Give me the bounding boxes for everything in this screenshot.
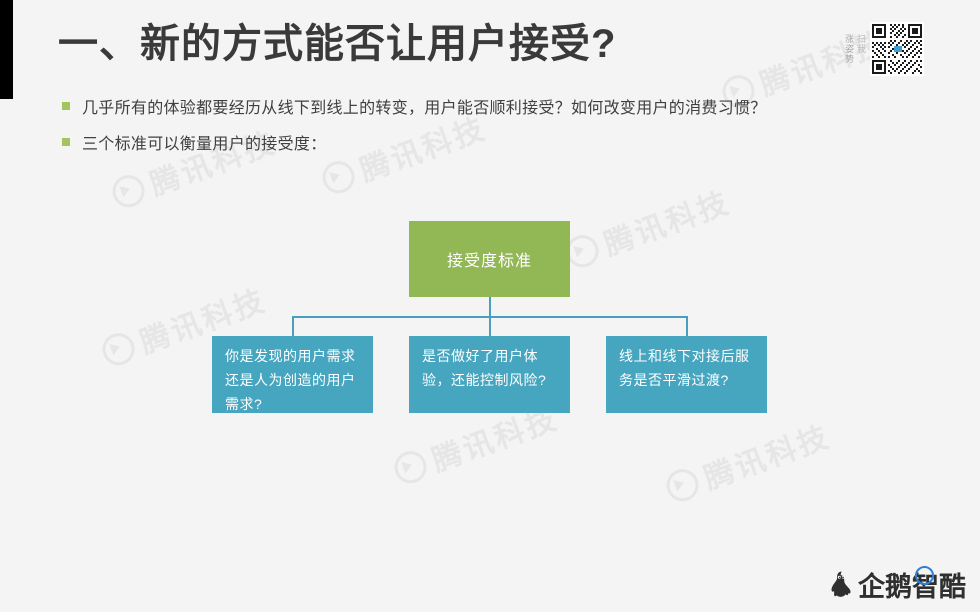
node-label: 接受度标准	[447, 247, 532, 271]
bullet-text: 三个标准可以衡量用户的接受度：	[82, 134, 327, 156]
node-label: 线上和线下对接后服务是否平滑过渡?	[619, 344, 754, 392]
page-title: 一、新的方式能否让用户接受?	[58, 18, 616, 70]
node-label: 你是发现的用户需求还是人为创造的用户需求?	[225, 344, 360, 416]
bullet-text: 几乎所有的体验都要经历从线下到线上的转变，用户能否顺利接受？如何改变用户的消费习…	[82, 98, 767, 120]
qr-promo-block[interactable]: 涨姿势 扫我	[844, 22, 924, 76]
penguin-icon	[828, 570, 854, 600]
list-item: 三个标准可以衡量用户的接受度：	[62, 134, 767, 156]
left-accent-bar	[0, 0, 13, 99]
connector-stem	[489, 297, 491, 317]
connector-drop-1	[292, 316, 294, 336]
diagram-node-child-1[interactable]: 你是发现的用户需求还是人为创造的用户需求?	[212, 336, 373, 413]
qr-caption: 涨姿势 扫我	[844, 34, 866, 64]
acceptance-criteria-diagram: 接受度标准 你是发现的用户需求还是人为创造的用户需求? 是否做好了用户体验，还能…	[0, 0, 980, 612]
qr-caption-scan: 扫我	[856, 34, 866, 54]
qr-caption-gain: 涨姿势	[844, 34, 854, 64]
diagram-node-child-2[interactable]: 是否做好了用户体验，还能控制风险?	[409, 336, 570, 413]
connector-drop-3	[686, 316, 688, 336]
bullet-list: 几乎所有的体验都要经历从线下到线上的转变，用户能否顺利接受？如何改变用户的消费习…	[62, 98, 767, 170]
node-label: 是否做好了用户体验，还能控制风险?	[422, 344, 557, 392]
diagram-node-root[interactable]: 接受度标准	[409, 221, 570, 297]
diagram-node-child-3[interactable]: 线上和线下对接后服务是否平滑过渡?	[606, 336, 767, 413]
brand-logo: 企鹅智酷	[828, 565, 966, 604]
presentation-slide: 腾讯科技 腾讯科技 腾讯科技 腾讯科技 腾讯科技 腾讯科技 腾讯科技 一、新的方…	[0, 0, 980, 612]
list-item: 几乎所有的体验都要经历从线下到线上的转变，用户能否顺利接受？如何改变用户的消费习…	[62, 98, 767, 120]
square-bullet-icon	[62, 102, 70, 110]
connector-drop-2	[489, 316, 491, 336]
square-bullet-icon	[62, 138, 70, 146]
brand-ring-icon	[915, 566, 934, 585]
brand-name: 企鹅智酷	[858, 565, 966, 604]
qr-code-icon[interactable]	[870, 22, 924, 76]
brand-name-text: 企鹅智酷	[858, 572, 966, 602]
